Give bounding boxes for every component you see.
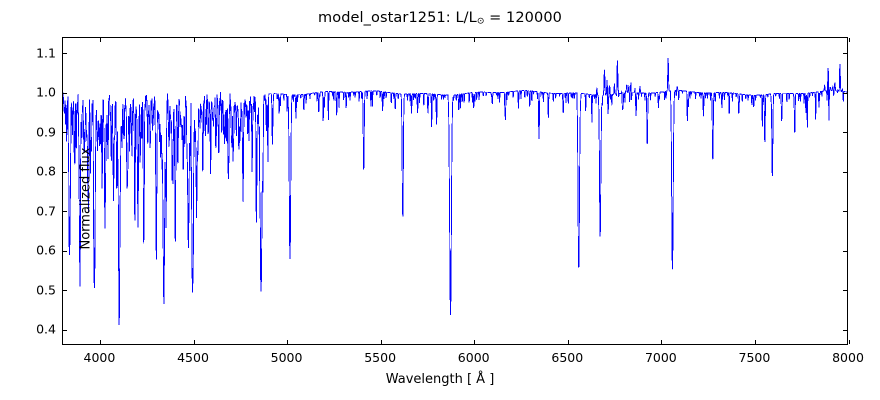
page-title: model_ostar1251: L/L⊙ = 120000 — [0, 10, 880, 27]
y-tick-label: 1.0 — [6, 85, 56, 100]
x-tick-mark — [194, 38, 195, 42]
x-tick-mark — [661, 340, 662, 344]
x-tick-mark — [381, 38, 382, 42]
title-suffix: = 120000 — [484, 10, 562, 26]
x-tick-mark — [568, 340, 569, 344]
y-axis-label: Normalized flux — [79, 99, 94, 299]
x-tick-mark — [849, 340, 850, 344]
x-tick-label: 5500 — [345, 350, 415, 365]
x-axis-label: Wavelength [ Å ] — [0, 372, 880, 387]
x-tick-mark — [381, 340, 382, 344]
x-tick-mark — [287, 340, 288, 344]
y-tick-mark — [63, 53, 67, 54]
y-tick-label: 0.6 — [6, 243, 56, 258]
y-tick-mark — [63, 290, 67, 291]
spectrum-plot — [63, 38, 847, 344]
y-tick-label: 0.8 — [6, 164, 56, 179]
x-tick-mark — [568, 38, 569, 42]
y-tick-label: 0.9 — [6, 124, 56, 139]
y-tick-mark — [63, 132, 67, 133]
y-tick-mark — [843, 330, 847, 331]
x-tick-mark — [287, 38, 288, 42]
x-tick-label: 4500 — [158, 350, 228, 365]
y-tick-mark — [63, 330, 67, 331]
y-tick-mark — [63, 211, 67, 212]
y-tick-mark — [843, 132, 847, 133]
y-tick-mark — [843, 53, 847, 54]
y-tick-label: 0.4 — [6, 322, 56, 337]
y-tick-mark — [843, 211, 847, 212]
title-prefix: model_ostar1251: L/L — [318, 10, 477, 26]
x-tick-label: 6000 — [439, 350, 509, 365]
spectrum-line-series — [63, 58, 847, 325]
y-tick-mark — [63, 93, 67, 94]
x-tick-mark — [100, 38, 101, 42]
x-tick-mark — [474, 340, 475, 344]
x-tick-label: 7000 — [626, 350, 696, 365]
y-tick-label: 1.1 — [6, 45, 56, 60]
y-tick-mark — [843, 93, 847, 94]
x-tick-label: 6500 — [532, 350, 602, 365]
x-tick-mark — [849, 38, 850, 42]
y-tick-mark — [63, 251, 67, 252]
x-tick-label: 7500 — [719, 350, 789, 365]
x-tick-label: 4000 — [64, 350, 134, 365]
x-tick-label: 5000 — [252, 350, 322, 365]
x-tick-mark — [755, 340, 756, 344]
x-tick-mark — [100, 340, 101, 344]
y-tick-mark — [843, 290, 847, 291]
x-tick-mark — [474, 38, 475, 42]
x-tick-label: 8000 — [813, 350, 880, 365]
figure-canvas: model_ostar1251: L/L⊙ = 120000 0.40.50.6… — [0, 0, 880, 400]
y-tick-mark — [63, 172, 67, 173]
y-tick-mark — [843, 251, 847, 252]
y-tick-mark — [843, 172, 847, 173]
x-tick-mark — [661, 38, 662, 42]
x-tick-mark — [755, 38, 756, 42]
y-tick-label: 0.7 — [6, 203, 56, 218]
y-tick-label: 0.5 — [6, 282, 56, 297]
plot-axes — [62, 37, 848, 345]
x-tick-mark — [194, 340, 195, 344]
